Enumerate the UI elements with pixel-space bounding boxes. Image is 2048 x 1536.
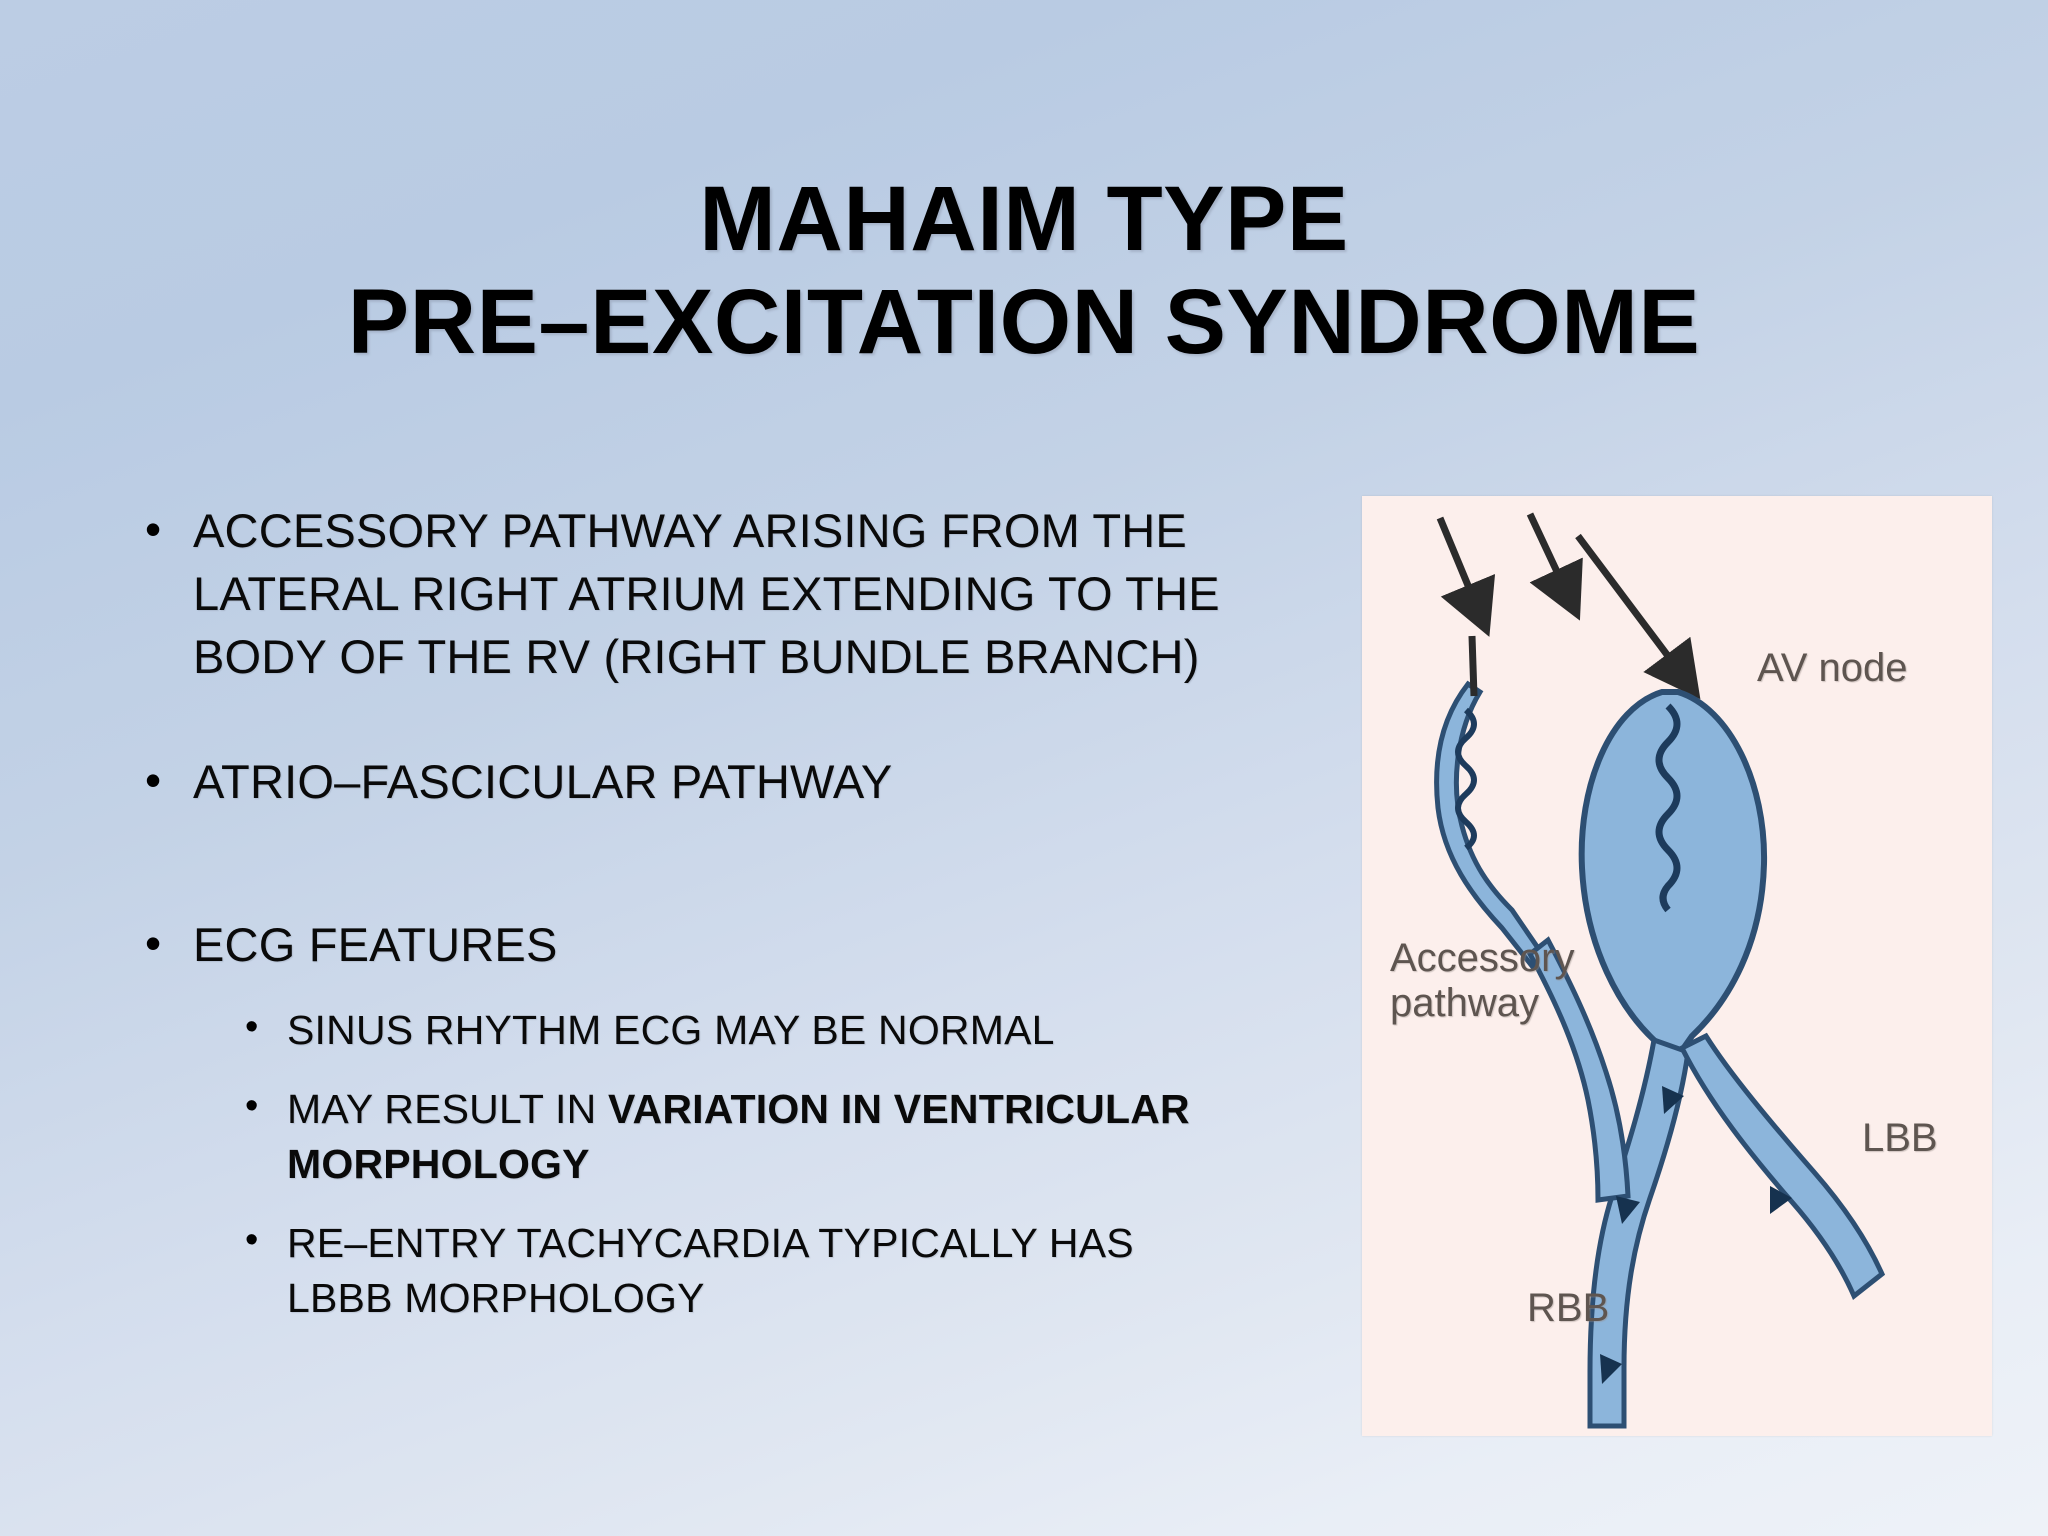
cardiac-conduction-diagram: AV node Accessory pathway LBB RBB bbox=[1362, 496, 1992, 1436]
av-node-structure bbox=[1582, 692, 1764, 1056]
bullet-marker-icon: • bbox=[245, 1216, 287, 1265]
title-line-1: MAHAIM TYPE bbox=[0, 168, 2048, 271]
sub-bullet-list: • SINUS RHYTHM ECG MAY BE NORMAL • MAY R… bbox=[245, 1003, 1250, 1326]
bullet-marker-icon: • bbox=[245, 1082, 287, 1131]
list-item: • ACCESSORY PATHWAY ARISING FROM THE LAT… bbox=[145, 500, 1250, 689]
sub-bullet-text-reentry-tachycardia: RE–ENTRY TACHYCARDIA TYPICALLY HAS LBBB … bbox=[287, 1216, 1250, 1326]
bullet-marker-icon: • bbox=[145, 751, 193, 810]
list-item: • ECG FEATURES bbox=[145, 914, 1250, 977]
list-item: • RE–ENTRY TACHYCARDIA TYPICALLY HAS LBB… bbox=[245, 1216, 1250, 1326]
list-item: • ATRIO–FASCICULAR PATHWAY bbox=[145, 751, 1250, 814]
list-item: • SINUS RHYTHM ECG MAY BE NORMAL bbox=[245, 1003, 1250, 1058]
sub-bullet-prefix: MAY RESULT IN bbox=[287, 1086, 608, 1132]
bullet-marker-icon: • bbox=[145, 500, 193, 559]
list-item: • MAY RESULT IN VARIATION IN VENTRICULAR… bbox=[245, 1082, 1250, 1192]
bullet-text-accessory-pathway: ACCESSORY PATHWAY ARISING FROM THE LATER… bbox=[193, 500, 1250, 689]
title-line-2: PRE–EXCITATION SYNDROME bbox=[0, 271, 2048, 374]
page-title: MAHAIM TYPE PRE–EXCITATION SYNDROME bbox=[0, 168, 2048, 374]
bullet-text-atrio-fascicular: ATRIO–FASCICULAR PATHWAY bbox=[193, 751, 892, 814]
bullet-marker-icon: • bbox=[145, 914, 193, 973]
figure-label-rbb: RBB bbox=[1527, 1286, 1609, 1331]
bullet-marker-icon: • bbox=[245, 1003, 287, 1052]
bullet-list: • ACCESSORY PATHWAY ARISING FROM THE LAT… bbox=[145, 500, 1250, 1350]
figure-label-lbb: LBB bbox=[1862, 1116, 1938, 1161]
bullet-text-ecg-features: ECG FEATURES bbox=[193, 914, 558, 977]
figure-label-accessory-pathway: Accessory pathway bbox=[1390, 936, 1575, 1026]
accessory-pathway-structure bbox=[1437, 636, 1538, 966]
figure-label-av-node: AV node bbox=[1757, 646, 1908, 691]
sub-bullet-text-variation-morphology: MAY RESULT IN VARIATION IN VENTRICULAR M… bbox=[287, 1082, 1250, 1192]
sub-bullet-text-sinus-rhythm: SINUS RHYTHM ECG MAY BE NORMAL bbox=[287, 1003, 1055, 1058]
spacer bbox=[145, 840, 1250, 914]
atrial-impulse-arrows bbox=[1440, 514, 1692, 688]
lbb-branch bbox=[1682, 1036, 1882, 1296]
